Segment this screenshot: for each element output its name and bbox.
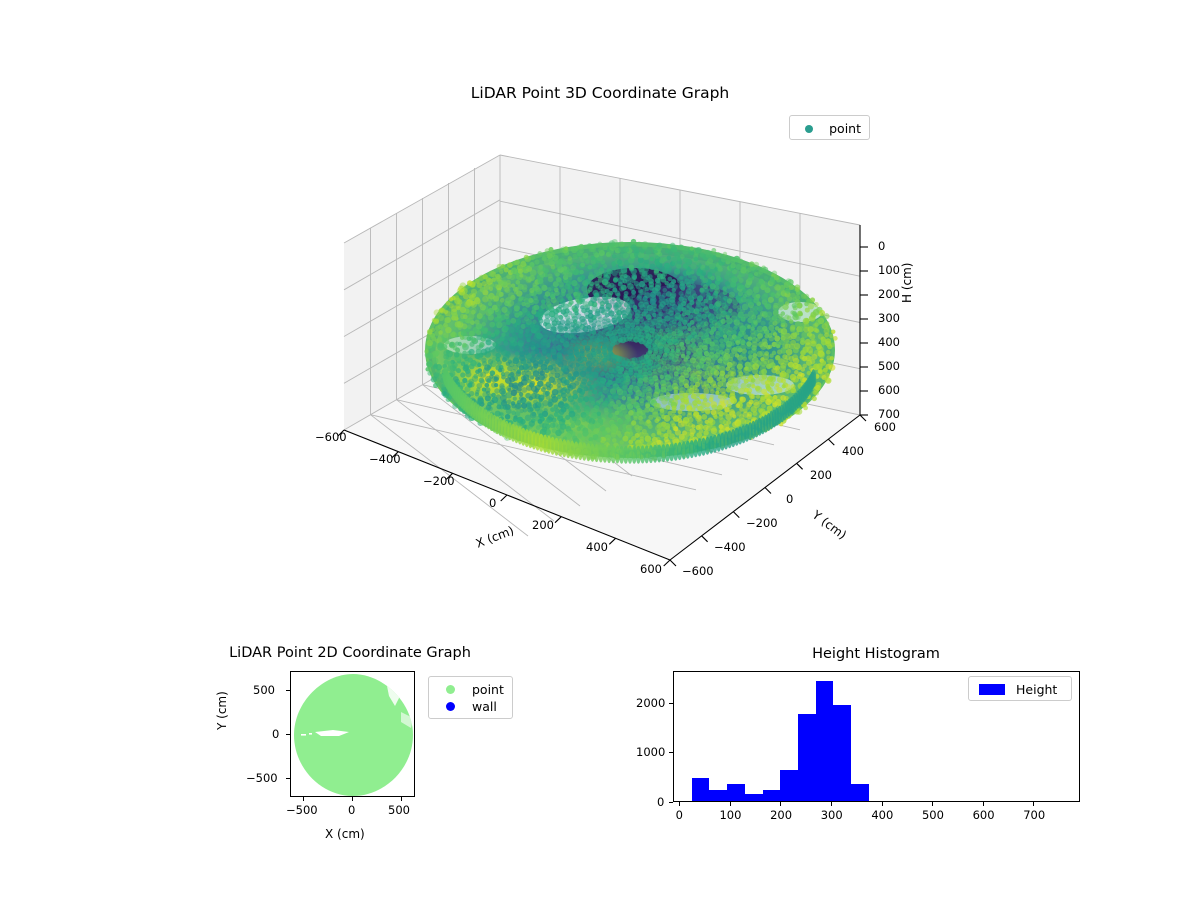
scatter-point <box>505 377 512 384</box>
scatter-point <box>619 412 623 416</box>
scatter-point <box>792 332 797 337</box>
scatter-point <box>701 408 706 413</box>
scatter-point <box>761 294 768 301</box>
scatter-point <box>678 421 685 428</box>
scatter-point <box>674 395 680 401</box>
scatter-point <box>503 399 507 403</box>
scatter-point <box>728 309 732 313</box>
scatter-point <box>664 263 670 269</box>
scatter-point <box>444 317 450 323</box>
scatter-point <box>579 249 584 254</box>
scatter-point <box>667 277 672 282</box>
scatter-point <box>696 261 700 265</box>
scatter-point <box>746 344 751 349</box>
scatter-point <box>831 329 836 334</box>
scatter-point <box>753 411 758 416</box>
scatter-point <box>774 336 780 342</box>
scatter-point <box>588 391 593 396</box>
scatter-point <box>529 262 534 267</box>
scatter-point <box>485 376 491 382</box>
scatter-point <box>492 342 497 347</box>
scatter-point <box>589 272 593 276</box>
scatter-point <box>648 274 653 279</box>
scatter-point <box>432 318 436 322</box>
scatter-point <box>770 377 776 383</box>
scatter-point <box>795 336 800 341</box>
scatter-point <box>565 355 569 359</box>
scatter-point <box>633 416 638 421</box>
plot2d-xlabel: X (cm) <box>325 827 365 841</box>
scatter-point <box>535 376 540 381</box>
scatter-point <box>494 329 500 335</box>
scatter-point <box>833 336 838 341</box>
scatter-point <box>806 347 813 354</box>
histogram-xtickmark <box>983 802 984 806</box>
scatter-point <box>478 396 484 402</box>
scatter-point <box>756 386 763 393</box>
scatter-point <box>648 424 653 429</box>
scatter-point <box>764 276 768 280</box>
scatter-point <box>483 274 488 279</box>
scatter-point <box>570 400 575 405</box>
histogram-ytick-label: 2000 <box>636 696 665 710</box>
scatter-point <box>795 287 800 292</box>
scatter-point <box>577 377 581 381</box>
scatter-point <box>803 318 810 325</box>
scatter-point <box>623 414 627 418</box>
scatter-point <box>726 367 731 372</box>
scatter-point <box>618 434 622 438</box>
scatter-point <box>803 405 808 410</box>
histogram-xtick-label: 100 <box>719 808 741 822</box>
scatter-point <box>678 245 684 251</box>
scatter-point <box>686 351 691 356</box>
scatter-point <box>522 307 528 313</box>
scatter-point <box>594 393 600 399</box>
scatter-point <box>525 415 532 422</box>
scatter-point <box>569 280 574 285</box>
scatter-point <box>678 291 683 296</box>
scatter-point <box>533 403 538 408</box>
legend-label-wall: wall <box>463 699 497 714</box>
scatter-point <box>567 376 571 380</box>
scatter-point <box>719 418 725 424</box>
legend-item-point: point <box>798 120 861 137</box>
scatter-point <box>542 255 547 260</box>
scatter-point <box>617 259 622 264</box>
scatter-point <box>756 294 761 299</box>
scatter-point <box>518 382 523 387</box>
histogram-ytick-label: 1000 <box>636 745 665 759</box>
scatter-point <box>590 256 595 261</box>
scatter-point <box>501 322 507 328</box>
scatter-point <box>725 374 729 378</box>
scatter-point <box>660 433 665 438</box>
scatter-point <box>489 322 495 328</box>
scatter-point <box>508 292 515 299</box>
scatter-point <box>817 346 823 352</box>
scatter-point <box>742 304 749 311</box>
scatter-point <box>624 419 629 424</box>
histogram-bar <box>833 705 851 801</box>
scatter-point <box>507 366 513 372</box>
scatter-point <box>603 245 608 250</box>
scatter-point <box>426 361 432 367</box>
scatter-point <box>500 298 505 303</box>
scatter-point <box>662 288 667 293</box>
scatter-point <box>754 374 759 379</box>
scatter-point <box>768 297 774 303</box>
scatter-point <box>619 241 625 247</box>
scatter-point <box>560 319 566 325</box>
scatter-point <box>494 388 499 393</box>
scatter-point <box>577 433 582 438</box>
scatter-point <box>690 290 696 296</box>
scatter-point <box>559 258 566 265</box>
scatter-point <box>823 368 828 373</box>
scatter-point <box>550 422 556 428</box>
scatter-point <box>683 325 687 329</box>
scatter-point <box>501 280 507 286</box>
scatter-point <box>525 343 530 348</box>
histogram-xtick-label: 0 <box>676 808 683 822</box>
histogram-xtick-label: 700 <box>1023 808 1045 822</box>
scatter-point <box>751 266 758 273</box>
scatter-point <box>756 317 761 322</box>
scatter-point <box>507 262 513 268</box>
scatter-point <box>730 263 735 268</box>
scatter-point <box>743 357 747 361</box>
histogram-xtick-label: 300 <box>821 808 843 822</box>
legend-item-wall: wall <box>437 698 504 715</box>
scatter-point <box>767 405 773 411</box>
scatter-point <box>563 266 568 271</box>
scatter-point <box>454 352 460 358</box>
scatter-point <box>594 269 599 274</box>
scatter-point <box>475 320 480 325</box>
scatter-point <box>690 263 696 269</box>
scatter-point <box>697 312 702 317</box>
scatter-point <box>756 394 760 398</box>
scatter-point <box>674 252 680 258</box>
scatter-point <box>587 243 592 248</box>
scatter-point <box>438 315 444 321</box>
scatter-point <box>702 345 708 351</box>
histogram-xtickmark <box>780 802 781 806</box>
histogram-xtick-label: 500 <box>922 808 944 822</box>
scatter-point <box>501 307 507 313</box>
plot2d-xtickmark-0 <box>352 797 353 801</box>
scatter-point <box>609 283 614 288</box>
scatter-point <box>746 289 753 296</box>
scatter-point <box>566 293 571 298</box>
scatter-point <box>475 370 479 374</box>
scatter-point <box>504 267 509 272</box>
scatter-point <box>713 285 719 291</box>
scatter-point <box>471 289 477 295</box>
point-marker-icon <box>798 125 820 133</box>
plot2d-xtickmark-m500 <box>303 797 304 801</box>
scatter-point <box>723 252 727 256</box>
plot3d-ztick-5: 500 <box>878 359 900 373</box>
scatter-point <box>695 247 702 254</box>
scatter-point <box>740 344 747 351</box>
scatter-point <box>591 401 596 406</box>
scatter-point <box>738 258 743 263</box>
plot3d-xtick-1: −400 <box>369 452 401 466</box>
scatter-point <box>600 394 604 398</box>
plot2d-ylabel: Y (cm) <box>215 691 229 730</box>
scatter-point <box>829 364 836 371</box>
legend-item-point: point <box>437 681 504 698</box>
plot3d-ztick-2: 200 <box>878 287 900 301</box>
scatter-point <box>787 279 793 285</box>
histogram-ytickmark <box>669 802 673 803</box>
scatter-point <box>713 373 718 378</box>
scatter-point <box>555 430 562 437</box>
plot3d-axes[interactable]: −600 −400 −200 0 200 400 600 X (cm) −600… <box>330 140 950 640</box>
scatter-point <box>760 321 765 326</box>
histogram-ytickmark <box>669 752 673 753</box>
scatter-point <box>782 384 786 388</box>
scatter-point <box>703 388 709 394</box>
scatter-point <box>438 330 442 334</box>
legend-label-height: Height <box>1007 682 1057 697</box>
scatter-point <box>488 270 495 277</box>
scatter-point <box>548 247 553 252</box>
scatter-point <box>476 387 480 391</box>
scatter-point <box>748 273 753 278</box>
scatter-point <box>433 383 438 388</box>
scatter-point <box>506 408 512 414</box>
scatter-point <box>425 367 430 372</box>
plot2d-axes[interactable] <box>290 671 415 797</box>
scatter-point <box>461 330 467 336</box>
scatter-point <box>815 319 821 325</box>
scatter-point <box>657 242 663 248</box>
scatter-point <box>725 414 732 421</box>
scatter-point <box>775 365 780 370</box>
scatter-point <box>598 242 603 247</box>
scatter-point <box>620 440 625 445</box>
scatter-point <box>548 274 553 279</box>
plot3d-ztick-1: 100 <box>878 263 900 277</box>
scatter-point <box>648 415 653 420</box>
scatter-point <box>513 396 517 400</box>
scatter-point <box>775 293 780 298</box>
scatter-point <box>797 303 803 309</box>
histogram-ytickmark <box>669 703 673 704</box>
scatter-point <box>511 267 518 274</box>
scatter-point <box>528 332 532 336</box>
plot3d-ytick-4: 200 <box>810 468 832 482</box>
scatter-point <box>534 259 539 264</box>
scatter-point <box>786 349 793 356</box>
scatter-point <box>696 432 702 438</box>
scatter-point <box>514 356 519 361</box>
histogram-xtickmark <box>932 802 933 806</box>
scatter-point <box>522 387 528 393</box>
scatter-point <box>437 342 443 348</box>
scatter-point <box>539 398 543 402</box>
scatter-point <box>572 369 578 375</box>
scatter-point <box>830 342 835 347</box>
scatter-point <box>565 415 570 420</box>
plot3d-title: LiDAR Point 3D Coordinate Graph <box>0 84 1200 102</box>
scatter-point <box>705 402 710 407</box>
scatter-point <box>808 303 814 309</box>
scatter-point <box>431 376 437 382</box>
scatter-point <box>506 362 510 366</box>
plot3d-xtick-5: 400 <box>586 540 608 554</box>
plot3d-ztick-0: 0 <box>878 239 885 253</box>
scatter-point <box>501 264 506 269</box>
scatter-point <box>670 292 676 298</box>
scatter-point <box>751 326 755 330</box>
scatter-point <box>605 289 610 294</box>
scatter-point <box>449 342 454 347</box>
scatter-point <box>488 359 493 364</box>
scatter-point <box>747 367 752 372</box>
scatter-point <box>424 349 428 353</box>
plot2d-point-disc <box>291 672 415 797</box>
plot3d-ztick-6: 600 <box>878 383 900 397</box>
scatter-point <box>681 435 687 441</box>
scatter-point <box>495 365 501 371</box>
plot3d-xtick-4: 200 <box>532 518 554 532</box>
scatter-point <box>580 275 586 281</box>
scatter-point <box>716 377 720 381</box>
scatter-point <box>654 418 659 423</box>
scatter-point <box>713 344 720 351</box>
scatter-point <box>637 242 642 247</box>
scatter-point <box>732 414 736 418</box>
histogram-ytick-label: 0 <box>657 795 664 809</box>
scatter-point <box>755 337 759 341</box>
scatter-point <box>826 350 831 355</box>
scatter-point <box>529 396 533 400</box>
scatter-point <box>824 372 829 377</box>
scatter-point <box>770 390 774 394</box>
scatter-point <box>505 414 510 419</box>
scatter-point <box>665 249 669 253</box>
scatter-point <box>484 383 489 388</box>
scatter-point <box>721 319 726 324</box>
scatter-point <box>473 374 478 379</box>
scatter-point <box>765 287 771 293</box>
scatter-point <box>519 396 524 401</box>
scatter-point <box>451 296 455 300</box>
scatter-point <box>582 253 588 259</box>
scatter-point <box>426 340 433 347</box>
scatter-point <box>800 373 804 377</box>
scatter-point <box>680 254 685 259</box>
scatter-point-rim <box>811 369 816 387</box>
scatter-point <box>452 331 456 335</box>
scatter-point <box>511 283 515 287</box>
scatter-point <box>794 370 799 375</box>
scatter-point <box>779 297 783 301</box>
histogram-bar <box>798 714 816 801</box>
scatter-point <box>812 396 817 401</box>
scatter-point <box>538 265 543 270</box>
scatter-point <box>667 256 672 261</box>
scatter-point <box>718 394 723 399</box>
scatter-point <box>703 277 709 283</box>
plot3d-ztick-3: 300 <box>878 311 900 325</box>
scatter-point <box>705 409 710 414</box>
plot2d-ytickmark-m500 <box>286 778 290 779</box>
scatter-point <box>614 395 619 400</box>
scatter-point <box>736 345 741 350</box>
plot2d-ytick-2: −500 <box>246 771 278 785</box>
scatter-point <box>788 388 794 394</box>
plot3d-ztick-4: 400 <box>878 335 900 349</box>
histogram-xtick-label: 200 <box>770 808 792 822</box>
scatter-point <box>492 277 497 282</box>
scatter-point <box>482 333 487 338</box>
scatter-point <box>616 297 621 302</box>
scatter-point <box>753 298 759 304</box>
scatter-point <box>825 321 830 326</box>
scatter-point <box>729 292 735 298</box>
scatter-point <box>820 360 826 366</box>
scatter-point <box>524 255 529 260</box>
scatter-point <box>747 384 751 388</box>
scatter-point <box>703 307 710 314</box>
scatter-point <box>670 345 675 350</box>
scatter-point <box>801 367 806 372</box>
scatter-point <box>608 413 613 418</box>
scatter-point <box>492 305 498 311</box>
scatter-point <box>790 324 795 329</box>
histogram-xtick-label: 600 <box>973 808 995 822</box>
scatter-point <box>628 440 633 445</box>
scatter-point <box>661 427 666 432</box>
scatter-point <box>725 257 729 261</box>
scatter-point <box>443 323 448 328</box>
scatter-point <box>434 363 438 367</box>
scatter-point <box>631 244 637 250</box>
scatter-point <box>462 351 467 356</box>
scatter-point <box>683 257 688 262</box>
scatter-point <box>773 309 779 315</box>
plot3d-xtick-6: 600 <box>640 562 662 576</box>
scatter-point <box>441 387 446 392</box>
scatter-point <box>631 239 636 244</box>
scatter-point <box>711 248 716 253</box>
scatter-point <box>755 378 761 384</box>
scatter-point <box>715 391 719 395</box>
scatter-point <box>482 387 486 391</box>
plot2d-xtick-2: 500 <box>388 803 410 817</box>
scatter-point <box>608 403 613 408</box>
scatter-point <box>814 302 819 307</box>
plot3d-ytick-5: 400 <box>842 444 864 458</box>
scatter-point <box>577 427 581 431</box>
histogram-bar <box>745 794 763 801</box>
scatter-point <box>810 312 816 318</box>
scatter-point <box>588 265 593 270</box>
scatter-point <box>552 344 556 348</box>
scatter-point <box>776 344 780 348</box>
scatter-point <box>488 302 492 306</box>
scatter-point <box>706 292 711 297</box>
scatter-point <box>788 336 792 340</box>
scatter-point <box>722 310 727 315</box>
scatter-point <box>482 392 488 398</box>
scatter-point <box>769 336 774 341</box>
